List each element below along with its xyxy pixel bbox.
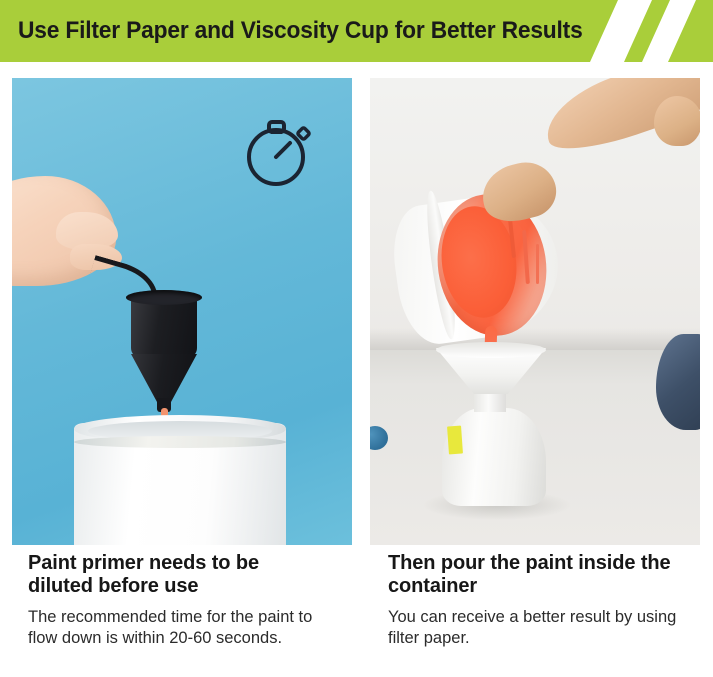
- caption-left-heading: Paint primer needs to be diluted before …: [28, 552, 328, 598]
- header-title: Use Filter Paper and Viscosity Cup for B…: [18, 0, 583, 62]
- caption-left-body: The recommended time for the paint to fl…: [28, 607, 328, 649]
- header-diagonal-stripe-1: [624, 0, 670, 62]
- bucket-lip-left: [74, 436, 286, 448]
- photo-panel-right: [370, 78, 700, 545]
- header-banner: Use Filter Paper and Viscosity Cup for B…: [0, 0, 713, 62]
- filter-funnel-rim-right: [436, 342, 546, 358]
- viscosity-cup-cone: [131, 354, 197, 402]
- fist-right: [654, 96, 700, 146]
- viscosity-cup-rim: [126, 290, 202, 305]
- photo-panel-left: [12, 78, 352, 545]
- stopwatch-icon: [240, 110, 318, 190]
- viscosity-cup-body: [131, 296, 197, 358]
- caption-right-heading: Then pour the paint inside the container: [388, 552, 688, 598]
- caption-right-body: You can receive a better result by using…: [388, 607, 688, 649]
- spray-container-label: [447, 426, 463, 455]
- paint-drip-3: [536, 244, 539, 284]
- caption-left: Paint primer needs to be diluted before …: [28, 552, 328, 649]
- header-diagonal-stripe-2: [668, 0, 713, 62]
- caption-right: Then pour the paint inside the container…: [388, 552, 688, 649]
- spray-container-right: [442, 408, 546, 506]
